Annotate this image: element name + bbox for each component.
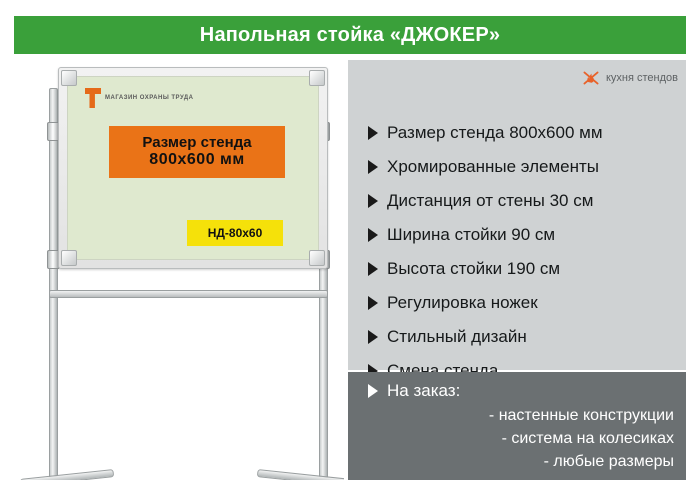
shop-logo: МАГАЗИН ОХРАНЫ ТРУДА	[85, 88, 194, 108]
page-title: Напольная стойка «ДЖОКЕР»	[200, 24, 500, 47]
spec-item: Размер стенда 800х600 мм	[368, 116, 676, 150]
order-panel: На заказ: - настенные конструкции - сист…	[348, 372, 686, 480]
spec-item: Регулировка ножек	[368, 286, 676, 320]
brand-logo: кухня стендов	[581, 68, 678, 88]
specs-panel: кухня стендов Размер стенда 800х600 мм Х…	[348, 60, 686, 370]
poster-page: Напольная стойка «ДЖОКЕР» МАГАЗИН ОХРАНЫ…	[0, 0, 700, 496]
spec-item: Дистанция от стены 30 см	[368, 184, 676, 218]
stand-board: МАГАЗИН ОХРАНЫ ТРУДА Размер стенда 800x6…	[58, 67, 328, 269]
spec-label: Высота стойки 190 см	[387, 259, 560, 279]
board-corner-top-right	[309, 70, 325, 86]
stand-crossbar	[49, 290, 328, 298]
spec-list: Размер стенда 800х600 мм Хромированные э…	[368, 116, 676, 388]
order-line: - система на колесиках	[348, 427, 686, 450]
spec-item: Ширина стойки 90 см	[368, 218, 676, 252]
order-line: - настенные конструкции	[348, 404, 686, 427]
spec-label: Размер стенда 800х600 мм	[387, 123, 603, 143]
code-plate: НД-80х60	[187, 220, 283, 246]
size-plate: Размер стенда 800x600 мм	[109, 126, 285, 178]
triangle-right-icon	[368, 330, 378, 344]
product-photo: МАГАЗИН ОХРАНЫ ТРУДА Размер стенда 800x6…	[14, 60, 344, 480]
triangle-right-icon	[368, 262, 378, 276]
triangle-right-icon	[368, 296, 378, 310]
spec-label: Стильный дизайн	[387, 327, 527, 347]
triangle-right-icon	[368, 160, 378, 174]
order-header: На заказ:	[368, 381, 686, 401]
spec-label: Ширина стойки 90 см	[387, 225, 555, 245]
logo-text: МАГАЗИН ОХРАНЫ ТРУДА	[105, 95, 194, 101]
triangle-right-icon	[368, 228, 378, 242]
spec-label: Дистанция от стены 30 см	[387, 191, 593, 211]
code-plate-label: НД-80х60	[208, 226, 263, 240]
stand-foot-left	[20, 469, 114, 480]
spec-item: Стильный дизайн	[368, 320, 676, 354]
spec-label: Хромированные элементы	[387, 157, 599, 177]
stand-foot-right	[257, 469, 344, 480]
board-corner-top-left	[61, 70, 77, 86]
header-bar: Напольная стойка «ДЖОКЕР»	[14, 16, 686, 54]
spec-item: Хромированные элементы	[368, 150, 676, 184]
board-corner-bottom-left	[61, 250, 77, 266]
size-plate-line1: Размер стенда	[142, 134, 251, 151]
order-line: - любые размеры	[348, 450, 686, 473]
brand-label: кухня стендов	[606, 72, 678, 84]
no-fire-icon	[581, 68, 601, 88]
triangle-right-icon	[368, 194, 378, 208]
spec-item: Высота стойки 190 см	[368, 252, 676, 286]
triangle-right-icon	[368, 126, 378, 140]
board-corner-bottom-right	[309, 250, 325, 266]
order-title: На заказ:	[387, 381, 460, 401]
triangle-right-icon	[368, 384, 378, 398]
logo-mark-icon	[85, 88, 101, 108]
stand-leg-left	[49, 88, 58, 480]
size-plate-line2: 800x600 мм	[149, 151, 244, 169]
spec-label: Регулировка ножек	[387, 293, 538, 313]
